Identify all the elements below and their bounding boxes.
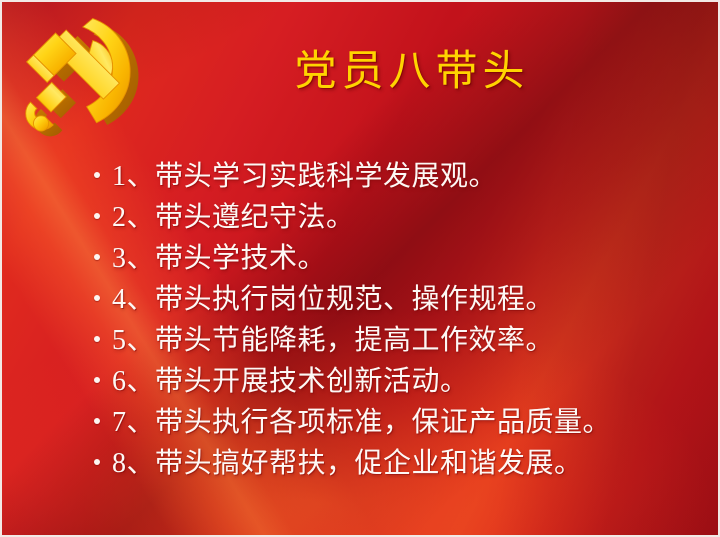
bullet-item-5: 5、带头节能降耗，提高工作效率。: [94, 324, 704, 365]
bullet-item-2: 2、带头遵纪守法。: [94, 201, 704, 242]
bullet-dot-icon: [94, 172, 100, 178]
cpc-emblem-icon: [16, 14, 168, 166]
bullet-dot-icon: [94, 213, 100, 219]
bullet-item-label: 1、带头学习实践科学发展观。: [112, 160, 497, 194]
bullet-dot-icon: [94, 254, 100, 260]
bullet-item-label: 6、带头开展技术创新活动。: [112, 365, 469, 399]
bullet-item-6: 6、带头开展技术创新活动。: [94, 365, 704, 406]
bullet-item-label: 7、带头执行各项标准，保证产品质量。: [112, 406, 611, 440]
bullet-dot-icon: [94, 336, 100, 342]
bullet-item-1: 1、带头学习实践科学发展观。: [94, 160, 704, 201]
bullet-item-label: 4、带头执行岗位规范、操作规程。: [112, 283, 554, 317]
bullet-list: 1、带头学习实践科学发展观。 2、带头遵纪守法。 3、带头学技术。 4、带头执行…: [94, 160, 704, 488]
bullet-item-7: 7、带头执行各项标准，保证产品质量。: [94, 406, 704, 447]
bullet-item-label: 2、带头遵纪守法。: [112, 201, 355, 235]
bullet-dot-icon: [94, 377, 100, 383]
slide-canvas: 党员八带头 1、带头学习实践科学发展观。 2、带头遵纪守法。 3、带头学技术。 …: [0, 0, 720, 537]
bullet-item-4: 4、带头执行岗位规范、操作规程。: [94, 283, 704, 324]
bullet-dot-icon: [94, 418, 100, 424]
bullet-item-3: 3、带头学技术。: [94, 242, 704, 283]
bullet-item-8: 8、带头搞好帮扶，促企业和谐发展。: [94, 447, 704, 488]
bullet-item-label: 3、带头学技术。: [112, 242, 326, 276]
bullet-item-label: 5、带头节能降耗，提高工作效率。: [112, 324, 554, 358]
bullet-dot-icon: [94, 459, 100, 465]
bullet-item-label: 8、带头搞好帮扶，促企业和谐发展。: [112, 447, 583, 481]
slide-title: 党员八带头: [182, 50, 642, 95]
bullet-dot-icon: [94, 295, 100, 301]
